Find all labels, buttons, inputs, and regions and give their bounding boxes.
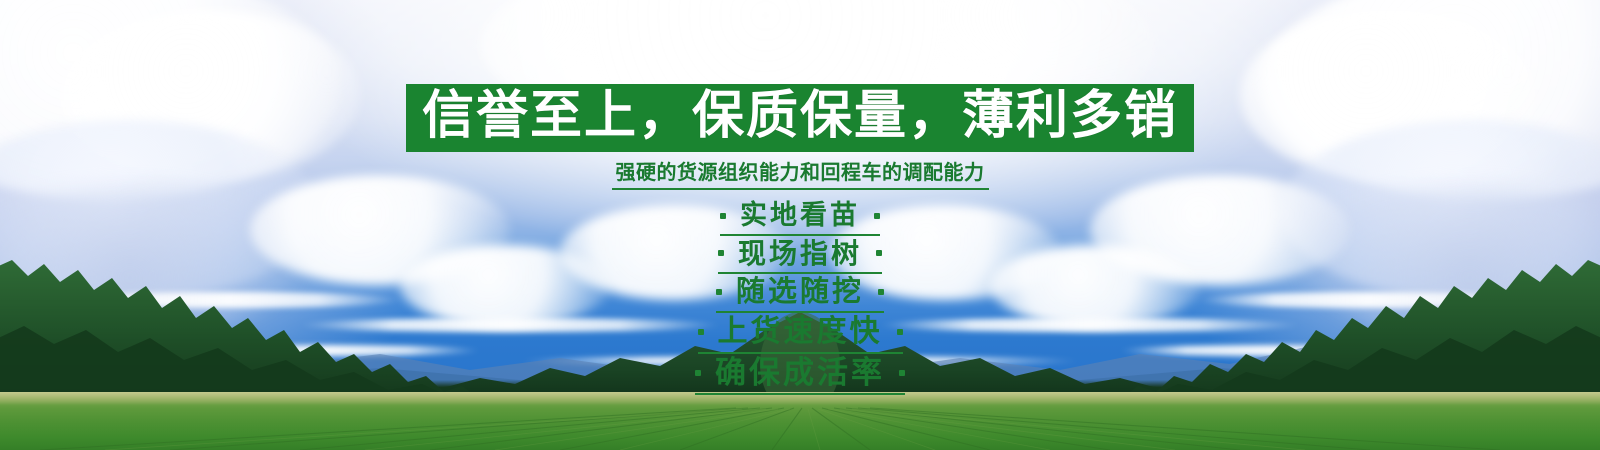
feature-label: 随选随挖 xyxy=(722,275,878,309)
headline-text: 信誉至上，保质保量，薄利多销 xyxy=(422,90,1178,143)
promo-banner: 信誉至上，保质保量，薄利多销 强硬的货源组织能力和回程车的调配能力 实地看苗 现… xyxy=(0,0,1600,450)
green-crop-field xyxy=(0,392,1600,450)
bullet-dot-icon xyxy=(876,250,882,256)
bullet-dot-icon xyxy=(878,289,884,295)
bullet-dot-icon xyxy=(874,213,880,219)
feature-label: 上货速度快 xyxy=(704,314,897,349)
subtitle-text: 强硬的货源组织能力和回程车的调配能力 xyxy=(612,161,989,190)
feature-label: 实地看苗 xyxy=(726,200,874,232)
crop-rows xyxy=(0,392,1600,450)
feature-item: 上货速度快 xyxy=(698,314,903,353)
bullet-dot-icon xyxy=(899,370,905,376)
feature-label: 现场指树 xyxy=(724,237,876,270)
feature-item: 实地看苗 xyxy=(720,200,880,236)
feature-item: 现场指树 xyxy=(718,237,882,274)
banner-content: 信誉至上，保质保量，薄利多销 强硬的货源组织能力和回程车的调配能力 实地看苗 现… xyxy=(0,0,1600,395)
headline-banner: 信誉至上，保质保量，薄利多销 xyxy=(406,84,1194,152)
feature-list: 实地看苗 现场指树 随选随挖 上货速度快 确保成活率 xyxy=(0,200,1600,395)
feature-label: 确保成活率 xyxy=(701,355,899,392)
feature-item: 随选随挖 xyxy=(716,275,884,313)
subtitle: 强硬的货源组织能力和回程车的调配能力 xyxy=(0,161,1600,190)
bullet-dot-icon xyxy=(897,329,903,335)
feature-item: 确保成活率 xyxy=(695,355,905,396)
